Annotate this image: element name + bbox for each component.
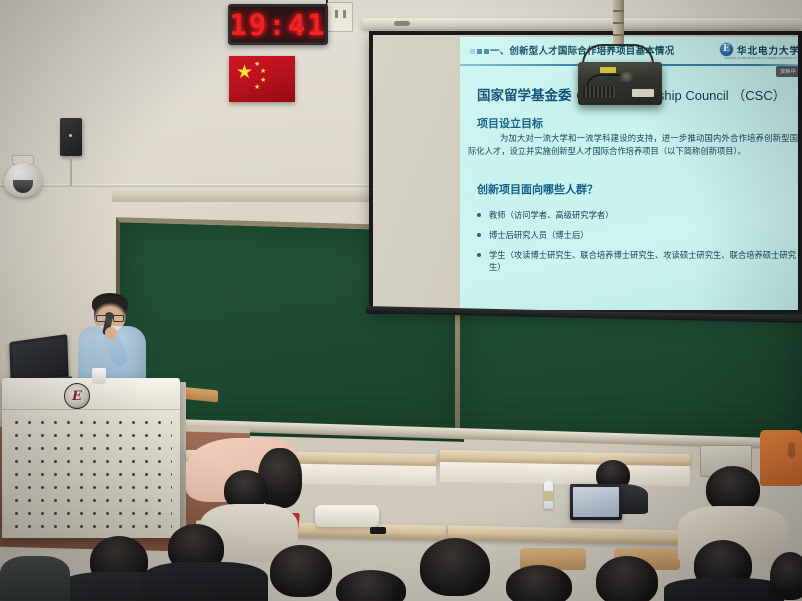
slide-bullet-squares-icon: [470, 49, 489, 54]
slide-bullet-list: 教师（访问学者、高级研究学者） 博士后研究人员（博士后） 学生（攻读博士研究生、…: [477, 209, 799, 281]
pole-band-2: [613, 22, 624, 24]
list-item: 博士后研究人员（博士后）: [477, 229, 799, 241]
projector-spec-label: [632, 89, 654, 97]
water-bottle: [544, 481, 553, 509]
mobile-phone: [370, 527, 386, 534]
white-bag: [315, 505, 379, 527]
university-logo-name: 华北电力大学: [737, 43, 800, 57]
audience-head: [270, 545, 332, 597]
podium-perforated-panel: [10, 416, 172, 528]
speaker-mount-arm: [70, 156, 72, 186]
china-national-flag: ★ ★ ★ ★ ★: [229, 56, 295, 102]
board-divider: [455, 300, 460, 438]
flag-star-small-2: ★: [260, 68, 266, 75]
audience-head: [420, 538, 490, 596]
desk-front-back-right: [440, 462, 690, 486]
lecture-hall-photo: 19:41 ★ ★ ★ ★ ★ 一、创新型人才国际合作培养项目基本情况: [0, 0, 802, 601]
led-wall-clock: 19:41: [228, 4, 328, 45]
flag-star-small-1: ★: [254, 61, 260, 68]
clock-time-text: 19:41: [229, 8, 326, 42]
projector-mount-arm: [582, 44, 654, 64]
square-2: [477, 49, 482, 54]
audience-shoulders: [142, 562, 268, 601]
audience-shoulders: [0, 556, 70, 601]
pole-band-3: [613, 34, 624, 36]
lecture-podium: [2, 378, 180, 538]
presenter-hand: [105, 327, 117, 339]
square-1: [470, 49, 475, 54]
audience-head: [770, 552, 802, 600]
slide-section2-title: 创新项目面向哪些人群？: [477, 181, 598, 197]
slide-section1-title: 项目设立目标: [477, 115, 543, 131]
university-logo-subtitle: NORTH CHINA ELECTRIC POWER UNIVERSITY: [725, 57, 798, 60]
audience-shoulders: [664, 578, 784, 601]
dome-security-camera-icon: [4, 163, 42, 197]
slide-heading-cn: 国家留学基金委: [477, 88, 572, 104]
audience-head: [506, 565, 572, 601]
university-logo: 华北电力大学 NORTH CHINA ELECTRIC POWER UNIVER…: [719, 42, 800, 57]
ceiling-projector: [578, 62, 662, 105]
slide-section1-body: 为加大对一流大学和一流学科建设的支持，进一步推动国内外合作培养创新型国际化人才，…: [468, 132, 798, 158]
pole-band-1: [613, 10, 624, 12]
wall-outlet: [327, 2, 353, 32]
flag-star-small-3: ★: [260, 77, 266, 84]
orange-chair: [760, 430, 802, 486]
water-cup: [92, 368, 106, 384]
flag-star-small-4: ★: [254, 84, 260, 91]
lens-right: [113, 315, 124, 322]
bottle-label: [544, 491, 553, 501]
flag-star-large: ★: [236, 63, 253, 82]
list-item: 教师（访问学者、高级研究学者）: [477, 209, 799, 221]
screen-roller-housing: [362, 18, 802, 29]
podium-university-emblem-icon: [64, 383, 90, 409]
wall-speaker-icon: [60, 118, 82, 156]
projector-warning-label: [600, 67, 616, 73]
university-emblem-icon: [719, 42, 734, 57]
audience-head: [596, 556, 658, 601]
speaker-led: [69, 134, 72, 137]
list-item: 学生（攻读博士研究生、联合培养博士研究生、攻读硕士研究生、联合培养硕士研究生）: [477, 249, 799, 273]
audience-head: [336, 570, 406, 601]
podium-top-surface: [2, 378, 180, 410]
desk-row-mid-right: [448, 525, 698, 544]
roller-knob: [394, 21, 410, 26]
projector-mount-pole: [613, 0, 624, 44]
projector-vent: [583, 86, 615, 98]
square-3: [484, 49, 489, 54]
slide-status-tooltip: 放映中: [776, 66, 800, 77]
audience-laptop: [570, 484, 622, 520]
projector-lens-icon: [620, 71, 633, 82]
